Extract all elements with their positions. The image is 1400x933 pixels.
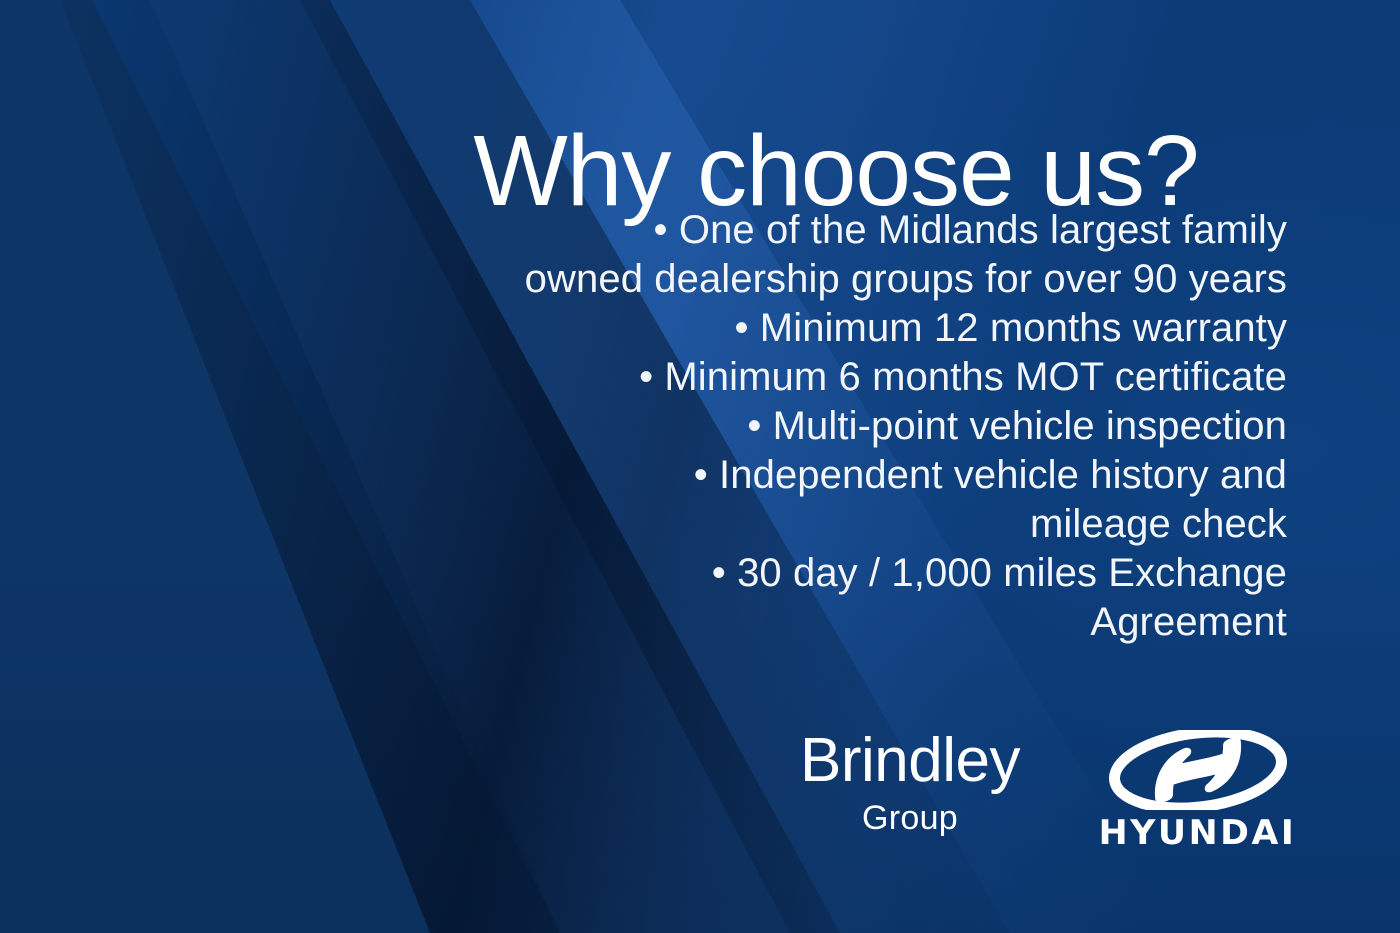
list-item: mileage check [457, 500, 1287, 549]
list-item: Agreement [457, 598, 1287, 647]
list-item: • Multi-point vehicle inspection [457, 402, 1287, 451]
list-item: • Minimum 12 months warranty [457, 304, 1287, 353]
brindley-wordmark: Brindley [760, 726, 1060, 796]
list-item: • One of the Midlands largest family [457, 206, 1287, 255]
hyundai-logo: HYUNDAI [1095, 730, 1300, 852]
list-item: • Independent vehicle history and [457, 451, 1287, 500]
brindley-group-subtext: Group [760, 798, 1060, 838]
list-item: owned dealership groups for over 90 year… [457, 255, 1287, 304]
list-item: • Minimum 6 months MOT certificate [457, 353, 1287, 402]
list-item: • 30 day / 1,000 miles Exchange [457, 549, 1287, 598]
benefits-list: • One of the Midlands largest family own… [457, 206, 1287, 647]
why-choose-us-banner: Why choose us? • One of the Midlands lar… [0, 0, 1400, 933]
logo-row: Brindley Group HYUNDAI [760, 726, 1320, 866]
hyundai-wordmark: HYUNDAI [1093, 814, 1302, 852]
hyundai-emblem-icon [1108, 730, 1288, 810]
banner-content: Why choose us? • One of the Midlands lar… [0, 0, 1400, 933]
brindley-group-logo: Brindley Group [760, 726, 1060, 838]
